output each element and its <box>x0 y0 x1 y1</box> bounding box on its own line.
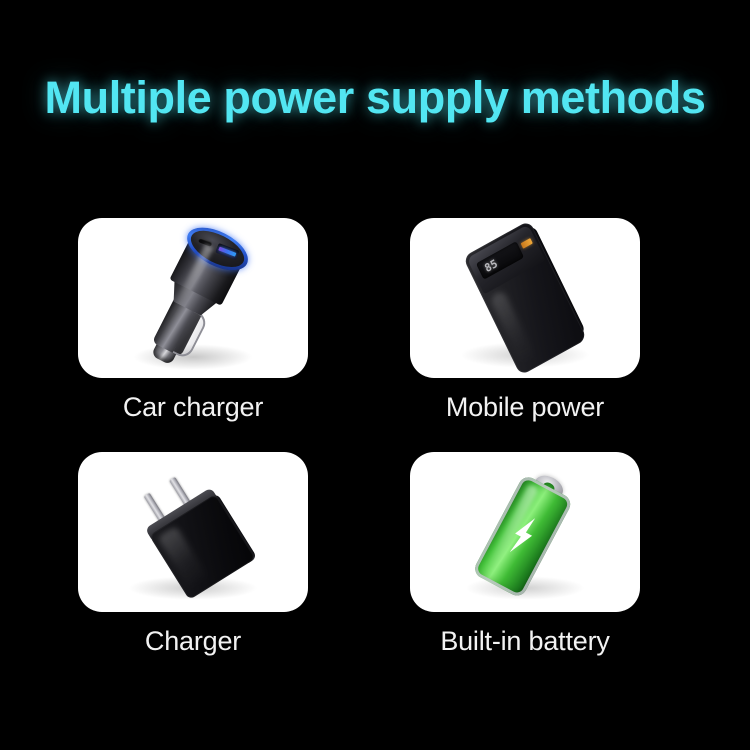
display-value: 85 <box>482 257 499 275</box>
feature-label: Mobile power <box>410 392 640 423</box>
wall-charger-icon <box>78 452 308 612</box>
power-bank-icon: 85 <box>410 218 640 378</box>
page-title: Multiple power supply methods <box>0 72 750 124</box>
battery-icon <box>410 452 640 612</box>
feature-label: Car charger <box>78 392 308 423</box>
feature-item-mobile-power[interactable]: 85 Mobile power <box>410 218 640 423</box>
feature-label: Built-in battery <box>410 626 640 657</box>
feature-card[interactable]: 85 <box>410 218 640 378</box>
feature-item-charger[interactable]: Charger <box>78 452 308 657</box>
feature-card[interactable] <box>78 218 308 378</box>
product-feature-infographic: Multiple power supply methods <box>0 0 750 750</box>
car-charger-icon <box>78 218 308 378</box>
feature-card[interactable] <box>410 452 640 612</box>
feature-item-car-charger[interactable]: Car charger <box>78 218 308 423</box>
feature-item-built-in-battery[interactable]: Built-in battery <box>410 452 640 657</box>
feature-card[interactable] <box>78 452 308 612</box>
feature-label: Charger <box>78 626 308 657</box>
